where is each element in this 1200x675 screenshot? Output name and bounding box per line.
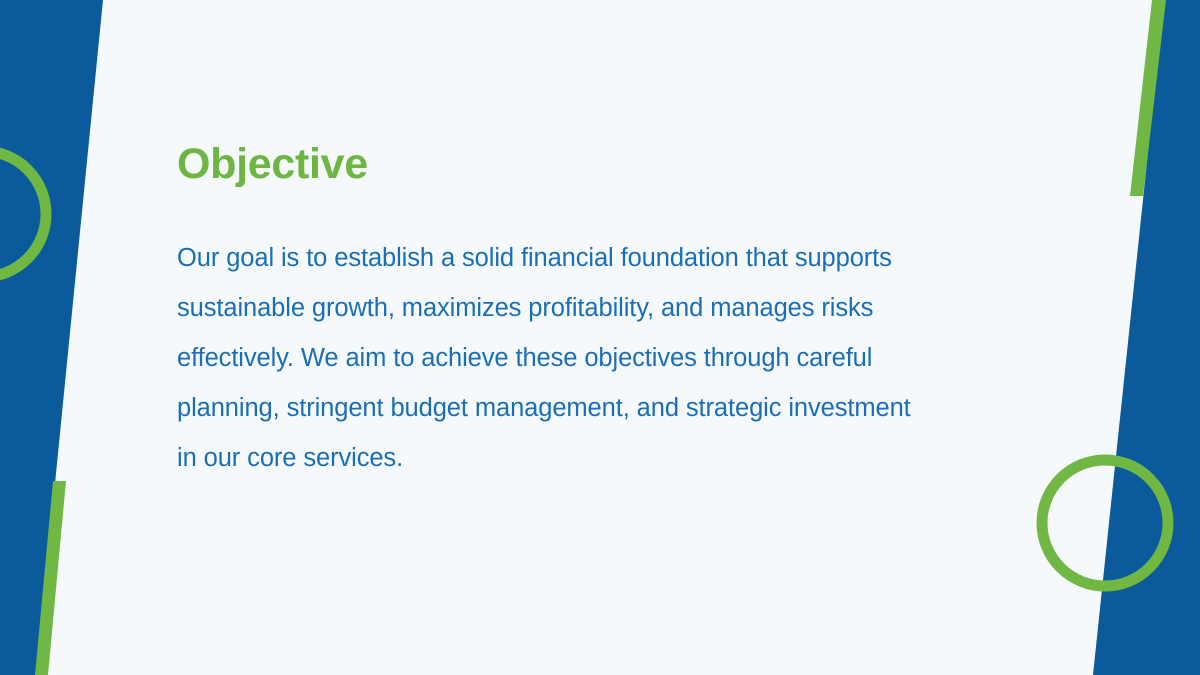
slide-body-text: Our goal is to establish a solid financi… — [177, 233, 937, 483]
green-circle-outline-right — [1042, 460, 1168, 586]
presentation-slide: Objective Our goal is to establish a sol… — [0, 0, 1200, 675]
green-circle-outline-left — [0, 151, 46, 277]
blue-angled-panel-right — [1093, 0, 1200, 675]
green-angled-bar-lower-left — [35, 481, 66, 675]
page-title: Objective — [177, 140, 967, 189]
slide-content: Objective Our goal is to establish a sol… — [177, 140, 967, 483]
blue-angled-panel-left — [0, 0, 103, 675]
green-angled-bar-upper-right — [1130, 0, 1166, 196]
